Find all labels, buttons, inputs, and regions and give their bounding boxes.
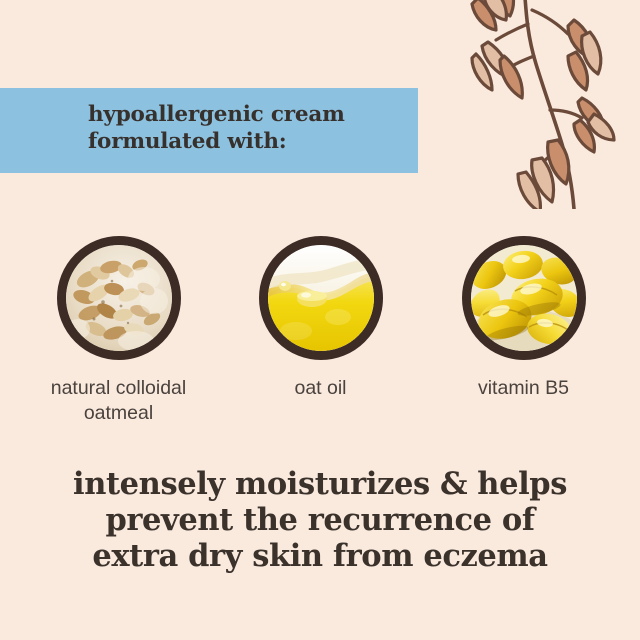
banner-text: hypoallergenic cream formulated with: [88,101,408,155]
vitamin-b5-capsules-photo-icon [471,245,577,351]
ingredient-label: vitamin B5 [421,376,626,401]
ingredient-item-oat-oil: oat oil [218,236,423,401]
oat-sprig-icon [462,0,640,209]
ingredient-circle-vitamin-b5 [462,236,586,360]
ingredient-item-oatmeal: natural colloidal oatmeal [16,236,221,426]
ingredient-circle-oat-oil [259,236,383,360]
oat-oil-photo-icon [268,245,374,351]
ingredient-circle-oatmeal [57,236,181,360]
hypoallergenic-banner: hypoallergenic cream formulated with: [0,88,418,173]
promo-graphic: hypoallergenic cream formulated with: [0,0,640,640]
ingredient-label: natural colloidal oatmeal [16,376,221,426]
benefit-headline: intensely moisturizes & helps prevent th… [0,466,640,574]
ingredients-row: natural colloidal oatmeal [0,236,640,411]
ingredient-item-vitamin-b5: vitamin B5 [421,236,626,401]
ingredient-label: oat oil [218,376,423,401]
colloidal-oatmeal-photo-icon [66,245,172,351]
